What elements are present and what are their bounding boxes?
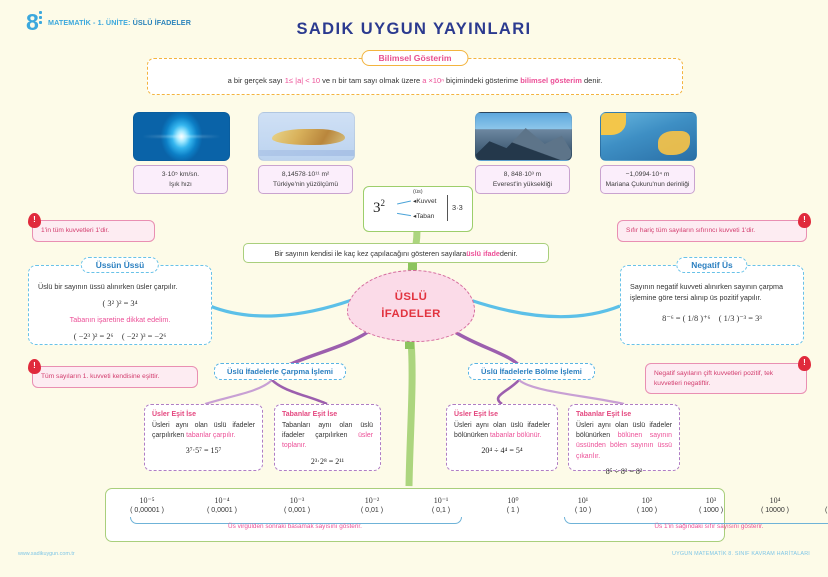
power-cell: 10² ( 100 ) (612, 496, 682, 514)
power-of-power-box: Üssün Üssü Üslü bir sayının üssü alınırk… (28, 265, 212, 345)
footer-series: UYGUN MATEMATİK 8. SINIF KAVRAM HARİTALA… (672, 551, 810, 557)
warning-text: Sıfır hariç tüm sayıların sıfırıncı kuvv… (626, 227, 755, 234)
power-cell: 10³ ( 1000 ) (676, 496, 746, 514)
example-card-light: 3·10⁵ km/sn. Işık hızı (133, 112, 228, 194)
warning-text: Negatif sayıların çift kuvvetleri poziti… (654, 370, 773, 387)
section-division-title: Üslü İfadelerle Bölme İşlemi (468, 363, 595, 380)
rule-title: Üsler Eşit İse (454, 411, 550, 418)
powers-of-ten-bar: 10⁻⁵ ( 0,00001 ) 10⁻⁴ ( 0,0001 ) 10⁻³ ( … (105, 488, 725, 542)
rule-box-mul-equal-exponents: Üsler Eşit İse Üsleri aynı olan üslü ifa… (144, 404, 263, 471)
rule-formula: 3⁷·5⁷ = 15⁷ (152, 446, 255, 455)
card-value: 8,14578·10¹¹ m² (261, 170, 350, 180)
central-topic-cloud: ÜSLÜ İFADELER (347, 270, 475, 342)
rule-formula: 8⁵ ÷ 8³ = 8² (576, 467, 672, 476)
power-of-power-body: Üslü bir sayının üssü alınırken üsler ça… (29, 266, 211, 350)
power-of-power-caption: Üssün Üssü (81, 257, 159, 273)
rule-title: Tabanlar Eşit İse (282, 411, 373, 418)
power-cell: 10⁻² ( 0,01 ) (337, 496, 407, 514)
negative-exponent-caption: Negatif Üs (676, 257, 747, 273)
taban-label: ◂Taban (413, 212, 434, 220)
rule-text: Üsleri aynı olan üslü ifadeler çarpılırk… (152, 421, 255, 441)
powers-label-left: Üs virgülden sonraki basamak sayısını gö… (130, 523, 460, 530)
rule-title: Tabanlar Eşit İse (576, 411, 672, 418)
exponent-expression: 32 (373, 198, 385, 217)
light-beam-photo (133, 112, 230, 161)
warning-bubble-4: ! Negatif sayıların çift kuvvetleri pozi… (645, 363, 807, 394)
footer-website[interactable]: www.sadikuygun.com.tr (18, 551, 75, 557)
exclamation-icon: ! (798, 356, 811, 371)
rule-text: Üsleri aynı olan üslü ifadeler bölünürke… (576, 421, 672, 462)
scientific-notation-box: Bilimsel Gösterim a bir gerçek sayı 1≤ |… (147, 58, 683, 95)
power-cell: 10⁵ ( 100000 ) (806, 496, 828, 514)
us-label: (üs) (413, 189, 423, 195)
rule-box-mul-equal-bases: Tabanlar Eşit İse Tabanları aynı olan üs… (274, 404, 381, 471)
power-cell: 10⁻¹ ( 0,1 ) (406, 496, 476, 514)
power-of-power-examples: ( −2³ )² = 2⁶ ( −2² )³ = −2⁶ (38, 331, 202, 344)
powers-label-right: Üs 1'in sağındaki sıfır sayısını gösteri… (564, 523, 828, 530)
negative-exponent-text: Sayının negatif kuvveti alınırken sayını… (630, 282, 794, 304)
card-caption: Everest'in yüksekliği (478, 180, 567, 190)
warning-bubble-1: ! 1'in tüm kuvvetleri 1'dir. (32, 220, 155, 242)
kuvvet-label: ◂Kuvvet (413, 197, 436, 205)
card-caption: Mariana Çukuru'nun derinliği (603, 180, 692, 190)
section-multiplication-title: Üslü İfadelerle Çarpma İşlemi (214, 363, 346, 380)
exclamation-icon: ! (798, 213, 811, 228)
cloud-shape (347, 270, 475, 342)
power-of-power-text: Üslü bir sayının üssü alınırken üsler ça… (38, 282, 202, 293)
everest-mountain-photo (475, 112, 572, 161)
brace-icon (447, 195, 448, 221)
negative-exponent-box: Negatif Üs Sayının negatif kuvveti alını… (620, 265, 804, 345)
cloud-title-line1: ÜSLÜ (347, 291, 475, 303)
rule-title: Üsler Eşit İse (152, 411, 255, 418)
cloud-title-line2: İFADELER (347, 308, 475, 320)
example-card-turkey: 8,14578·10¹¹ m² Türkiye'nin yüzölçümü (258, 112, 353, 194)
power-cell: 10⁻⁵ ( 0,00001 ) (112, 496, 182, 514)
example-card-label: 3·10⁵ km/sn. Işık hızı (133, 165, 228, 194)
card-value: 8, 848·10³ m (478, 170, 567, 180)
example-card-label: 8,14578·10¹¹ m² Türkiye'nin yüzölçümü (258, 165, 353, 194)
power-cell: 10⁻³ ( 0,001 ) (262, 496, 332, 514)
page-title: SADIK UYGUN YAYINLARI (0, 20, 828, 39)
power-of-power-formula: ( 3² )² = 3⁴ (38, 298, 202, 311)
negative-exponent-body: Sayının negatif kuvveti alınırken sayını… (621, 266, 803, 331)
example-card-everest: 8, 848·10³ m Everest'in yüksekliği (475, 112, 570, 194)
scientific-notation-text: a bir gerçek sayı 1≤ |a| < 10 ve n bir t… (148, 76, 682, 85)
exponent-anatomy-diagram: 32 (üs) ◂Kuvvet ◂Taban 3·3 (363, 186, 473, 232)
scientific-notation-caption: Bilimsel Gösterim (361, 50, 468, 66)
rule-text: Üsleri aynı olan üslü ifadeler bölünürke… (454, 421, 550, 441)
concept-map-page: 8 MATEMATİK - 1. ÜNİTE: ÜSLÜ İFADELER SA… (0, 0, 828, 577)
turkey-map-photo (258, 112, 355, 161)
negative-exponent-formulas: 8⁻⁶ = ( 1/8 )⁺⁶ ( 1/3 )⁻³ = 3³ (630, 313, 794, 326)
rule-formula: 20⁴ ÷ 4⁴ = 5⁴ (454, 446, 550, 455)
expansion-value: 3·3 (452, 203, 463, 212)
power-cell: 10¹ ( 10 ) (548, 496, 618, 514)
warning-bubble-2: ! Sıfır hariç tüm sayıların sıfırıncı ku… (617, 220, 807, 242)
rule-box-div-equal-bases: Tabanlar Eşit İse Üsleri aynı olan üslü … (568, 404, 680, 471)
example-card-label: −1,0994·10⁴ m Mariana Çukuru'nun derinli… (600, 165, 695, 194)
rule-box-div-equal-exponents: Üsler Eşit İse Üsleri aynı olan üslü ifa… (446, 404, 558, 471)
warning-text: Tüm sayıların 1. kuvveti kendisine eşitt… (41, 373, 159, 380)
card-value: −1,0994·10⁴ m (603, 170, 692, 180)
power-of-power-note: Tabanın işaretine dikkat edelim. (38, 315, 202, 326)
card-caption: Türkiye'nin yüzölçümü (261, 180, 350, 190)
rule-formula: 2³·2⁸ = 2¹¹ (282, 457, 373, 466)
definition-box: Bir sayının kendisi ile kaç kez çapılaca… (243, 243, 549, 263)
power-cell-zero: 10⁰ ( 1 ) (478, 496, 548, 514)
exclamation-icon: ! (28, 359, 41, 374)
card-value: 3·10⁵ km/sn. (136, 170, 225, 180)
example-card-mariana: −1,0994·10⁴ m Mariana Çukuru'nun derinli… (600, 112, 695, 194)
rule-text: Tabanları aynı olan üslü ifadeler çarpıl… (282, 421, 373, 452)
exclamation-icon: ! (28, 213, 41, 228)
power-cell: 10⁴ ( 10000 ) (740, 496, 810, 514)
taban-arrow-icon (397, 213, 411, 216)
card-caption: Işık hızı (136, 180, 225, 190)
warning-text: 1'in tüm kuvvetleri 1'dir. (41, 227, 109, 234)
kuvvet-arrow-icon (397, 201, 411, 205)
example-card-label: 8, 848·10³ m Everest'in yüksekliği (475, 165, 570, 194)
mariana-trench-map-photo (600, 112, 697, 161)
warning-bubble-3: ! Tüm sayıların 1. kuvveti kendisine eşi… (32, 366, 198, 388)
power-cell: 10⁻⁴ ( 0,0001 ) (187, 496, 257, 514)
